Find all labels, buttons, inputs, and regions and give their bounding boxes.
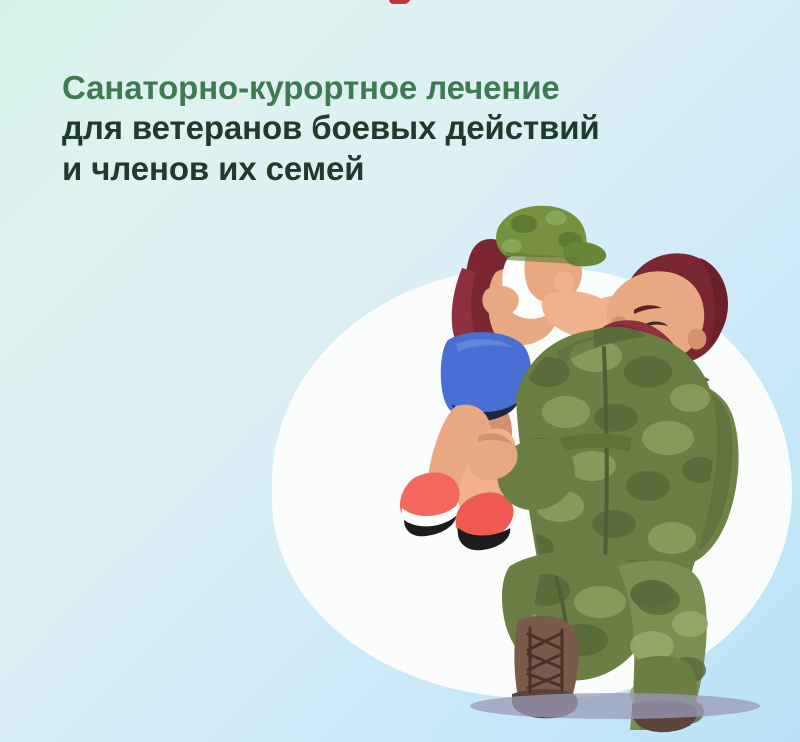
headline-line-3: и членов их семей [62, 149, 722, 189]
headline-line-1: Санаторно-курортное лечение [62, 68, 722, 108]
girl-camo-cap [496, 206, 606, 267]
page-title: Санаторно-курортное лечение для ветерано… [62, 68, 722, 189]
ground-shadow [470, 693, 760, 719]
poster-canvas: Санаторно-курортное лечение для ветерано… [0, 0, 800, 742]
headline-line-2: для ветеранов боевых действий [62, 108, 722, 148]
girl-red-shoe-front [400, 472, 460, 536]
